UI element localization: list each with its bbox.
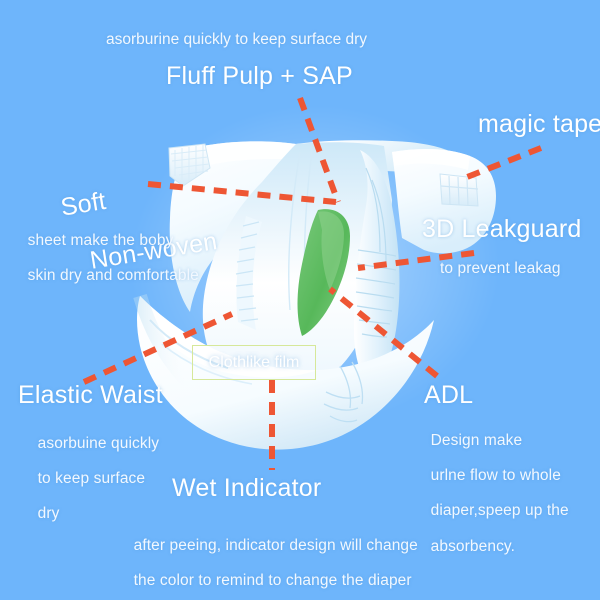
callout-title-adl: ADL xyxy=(424,381,473,410)
elastic-waist-sub-line1: asorbuine quickly xyxy=(38,435,159,452)
callout-sub-wet-indicator: after peeing, indicator design will chan… xyxy=(116,519,418,600)
leakguard-ruffle-folds xyxy=(356,168,396,337)
magic-tape-tab xyxy=(440,174,478,206)
callout-title-3d-leakguard: 3D Leakguard xyxy=(422,215,581,244)
callout-title-wet-indicator: Wet Indicator xyxy=(172,474,321,503)
adl-sub-line1: Design make xyxy=(431,432,523,449)
callout-box-clothlike-film: Clothlike film xyxy=(192,345,316,380)
body-seam-lines xyxy=(289,150,312,312)
absorbent-core-highlight xyxy=(318,211,344,290)
adl-sub-line2: urlne flow to whole xyxy=(431,467,561,484)
callout-title-clothlike-film: Clothlike film xyxy=(209,354,300,372)
callout-sub-soft-nonwoven: sheet make the boby skin dry and comfort… xyxy=(10,214,199,302)
back-waist-panel xyxy=(222,140,452,190)
top-caption: asorburine quickly to keep surface dry xyxy=(106,31,367,49)
callout-title-magic-tape: magic tape xyxy=(478,110,600,139)
leader-fluff-pulp xyxy=(300,98,338,202)
wet-indicator-sub-line1: after peeing, indicator design will chan… xyxy=(134,537,418,554)
left-elastic-strip xyxy=(236,216,262,330)
crotch-elastic-gathers xyxy=(324,362,363,422)
callout-title-fluff-pulp: Fluff Pulp + SAP xyxy=(166,62,353,91)
callout-sub-adl: Design make urlne flow to whole diaper,s… xyxy=(413,414,569,573)
front-panel-shading xyxy=(140,296,190,384)
left-elastic-pleats xyxy=(236,222,259,321)
adl-sub-line4: absorbency. xyxy=(431,538,515,555)
elastic-waist-sub-line3: dry xyxy=(38,505,60,522)
callout-title-elastic-waist: Elastic Waist xyxy=(18,381,163,410)
adl-sub-line3: diaper,speep up the xyxy=(431,502,569,519)
elastic-waist-sub-line2: to keep surface xyxy=(38,470,145,487)
callout-sub-3d-leakguard: to prevent leakag xyxy=(440,260,561,278)
right-wing-highlight xyxy=(392,149,470,170)
leader-adl xyxy=(330,289,437,376)
wet-indicator-sub-line2: the color to remind to change the diaper xyxy=(134,572,412,589)
leader-magic-tape xyxy=(462,148,541,179)
absorbent-core xyxy=(298,209,351,336)
soft-nonwoven-sub-line2: skin dry and comfortable xyxy=(28,267,199,284)
magic-tape-texture xyxy=(441,176,478,206)
soft-nonwoven-sub-line1: sheet make the boby xyxy=(28,232,174,249)
diaper-feature-infographic: asorburine quickly to keep surface dry F… xyxy=(0,0,600,600)
leakguard-ruffle xyxy=(354,150,399,386)
